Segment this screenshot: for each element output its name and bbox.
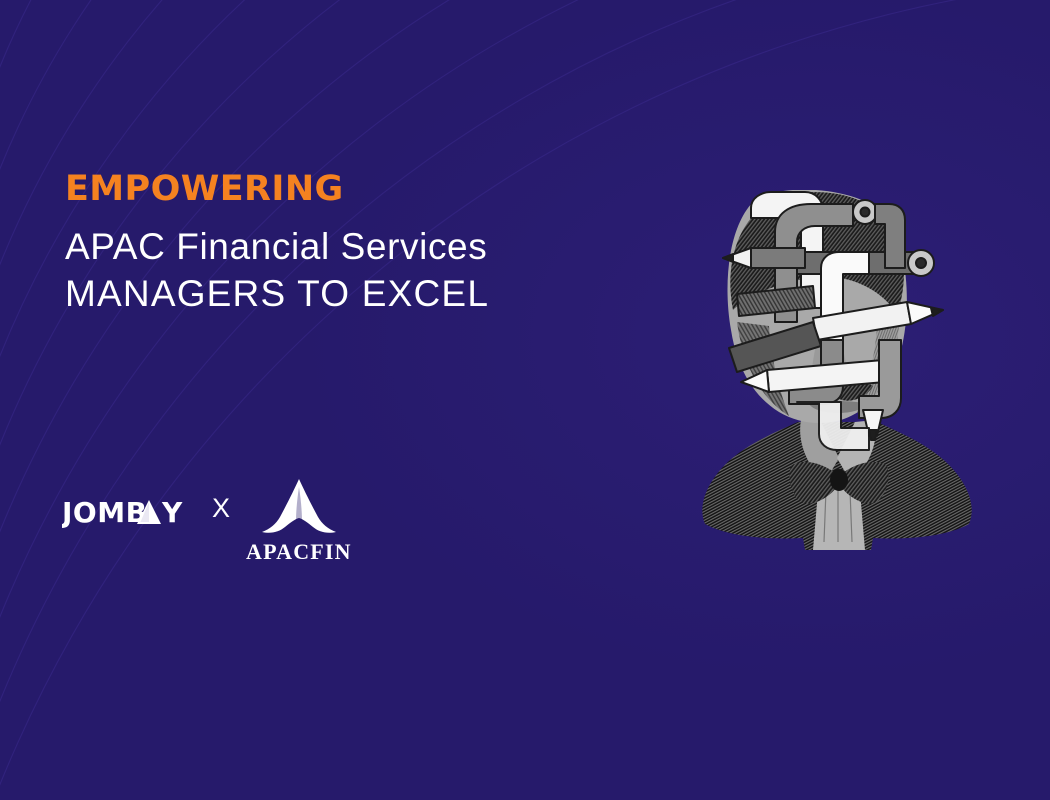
headline-eyebrow: EMPOWERING: [65, 172, 625, 207]
promo-banner: EMPOWERING APAC Financial Services MANAG…: [0, 0, 1050, 800]
partner-logo-lockup: JOMB Y X APACFIN: [62, 470, 352, 555]
svg-text:Y: Y: [161, 496, 183, 529]
hero-illustration: [693, 190, 983, 562]
headline-line-2: APAC Financial Services: [65, 223, 625, 270]
lockup-separator: X: [212, 495, 230, 522]
apacfin-wordmark: APACFIN: [246, 541, 352, 563]
apacfin-logo[interactable]: APACFIN: [246, 478, 352, 563]
svg-text:JOMB: JOMB: [62, 496, 147, 529]
apacfin-flame-mark: [253, 478, 345, 540]
jombay-logo[interactable]: JOMB Y: [62, 493, 194, 533]
headline-block: EMPOWERING APAC Financial Services MANAG…: [65, 172, 625, 318]
headline-line-3: MANAGERS TO EXCEL: [65, 270, 625, 317]
